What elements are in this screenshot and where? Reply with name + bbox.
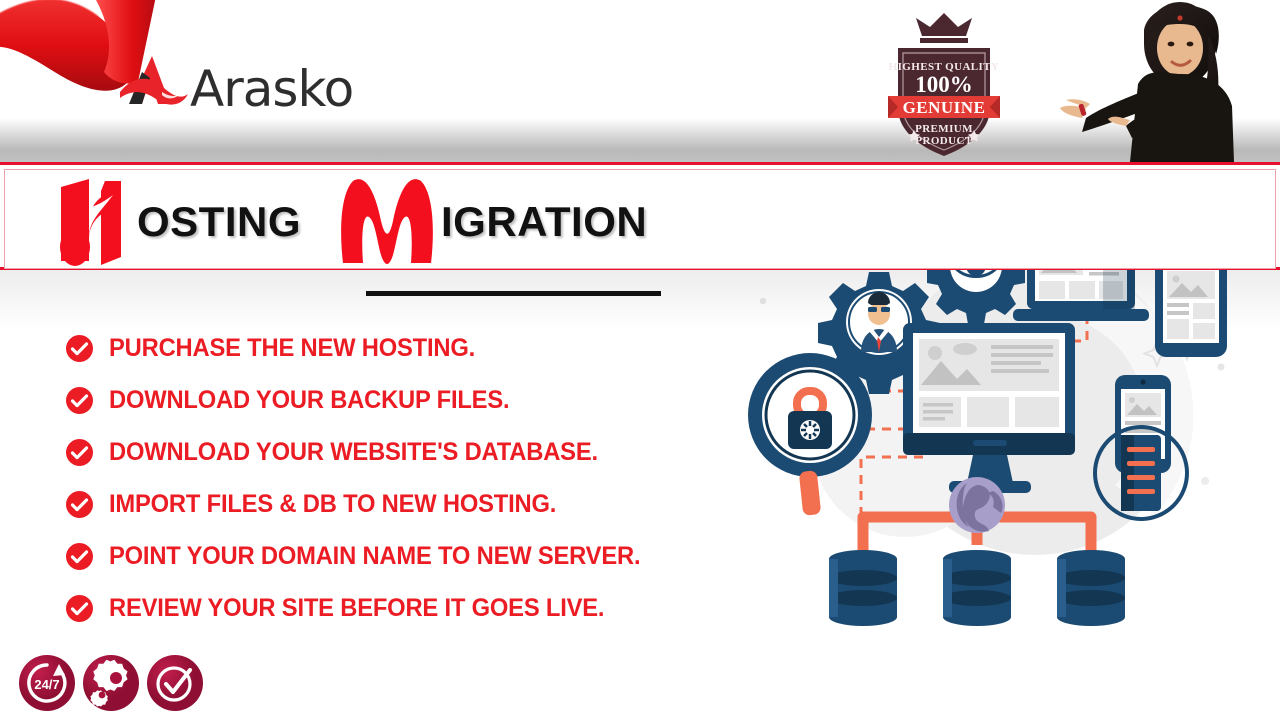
svg-text:PREMIUM: PREMIUM <box>915 123 973 135</box>
svg-text:24/7: 24/7 <box>34 677 59 692</box>
step-label: POINT YOUR DOMAIN NAME TO NEW SERVER. <box>109 542 640 571</box>
check-circle-icon <box>66 335 93 362</box>
list-item: DOWNLOAD YOUR BACKUP FILES. <box>66 374 766 426</box>
crown-icon <box>916 13 972 36</box>
arasko-a-swoosh-logo <box>118 52 196 114</box>
step-label: IMPORT FILES & DB TO NEW HOSTING. <box>109 490 556 519</box>
check-circle-icon <box>66 387 93 414</box>
poster-canvas: Arasko HIGHEST QUALITY 100% GENUINE PREM… <box>0 0 1280 720</box>
steps-list: PURCHASE THE NEW HOSTING. DOWNLOAD YOUR … <box>66 322 766 634</box>
check-badge-icon[interactable] <box>146 654 204 712</box>
check-circle-icon <box>66 439 93 466</box>
page-title: OSTING IGRATION <box>43 176 681 268</box>
list-item: POINT YOUR DOMAIN NAME TO NEW SERVER. <box>66 530 766 582</box>
svg-text:100%: 100% <box>915 72 973 97</box>
list-item: PURCHASE THE NEW HOSTING. <box>66 322 766 374</box>
svg-text:GENUINE: GENUINE <box>903 98 986 117</box>
brand-name: Arasko <box>190 64 353 114</box>
title-word-hosting: OSTING <box>137 198 301 246</box>
step-label: REVIEW YOUR SITE BEFORE IT GOES LIVE. <box>109 594 604 623</box>
title-band: OSTING IGRATION <box>0 162 1280 270</box>
step-label: DOWNLOAD YOUR WEBSITE'S DATABASE. <box>109 438 598 467</box>
decorative-letter-m <box>335 177 439 267</box>
footer-bar: 24/7 BUILDING A BETTER TOMORROW <box>0 648 1280 720</box>
title-word-migration: IGRATION <box>441 198 647 246</box>
gears-icon[interactable] <box>82 654 140 712</box>
list-item: REVIEW YOUR SITE BEFORE IT GOES LIVE. <box>66 582 766 634</box>
check-circle-icon <box>66 543 93 570</box>
title-inner-frame: OSTING IGRATION <box>4 169 1276 269</box>
check-circle-icon <box>66 595 93 622</box>
footer-icon-group: 24/7 <box>18 654 204 712</box>
step-label: DOWNLOAD YOUR BACKUP FILES. <box>109 386 509 415</box>
list-item: DOWNLOAD YOUR WEBSITE'S DATABASE. <box>66 426 766 478</box>
list-item: IMPORT FILES & DB TO NEW HOSTING. <box>66 478 766 530</box>
step-label: PURCHASE THE NEW HOSTING. <box>109 334 475 363</box>
check-circle-icon <box>66 491 93 518</box>
woman-pointing-photo <box>1020 0 1270 162</box>
title-divider <box>366 291 661 296</box>
quality-badge: HIGHEST QUALITY 100% GENUINE PREMIUM PRO… <box>884 8 1004 158</box>
support-247-icon[interactable]: 24/7 <box>18 654 76 712</box>
svg-text:PRODUCT: PRODUCT <box>915 135 972 147</box>
decorative-letter-h <box>43 177 135 267</box>
brand-logo[interactable]: Arasko <box>118 52 353 114</box>
